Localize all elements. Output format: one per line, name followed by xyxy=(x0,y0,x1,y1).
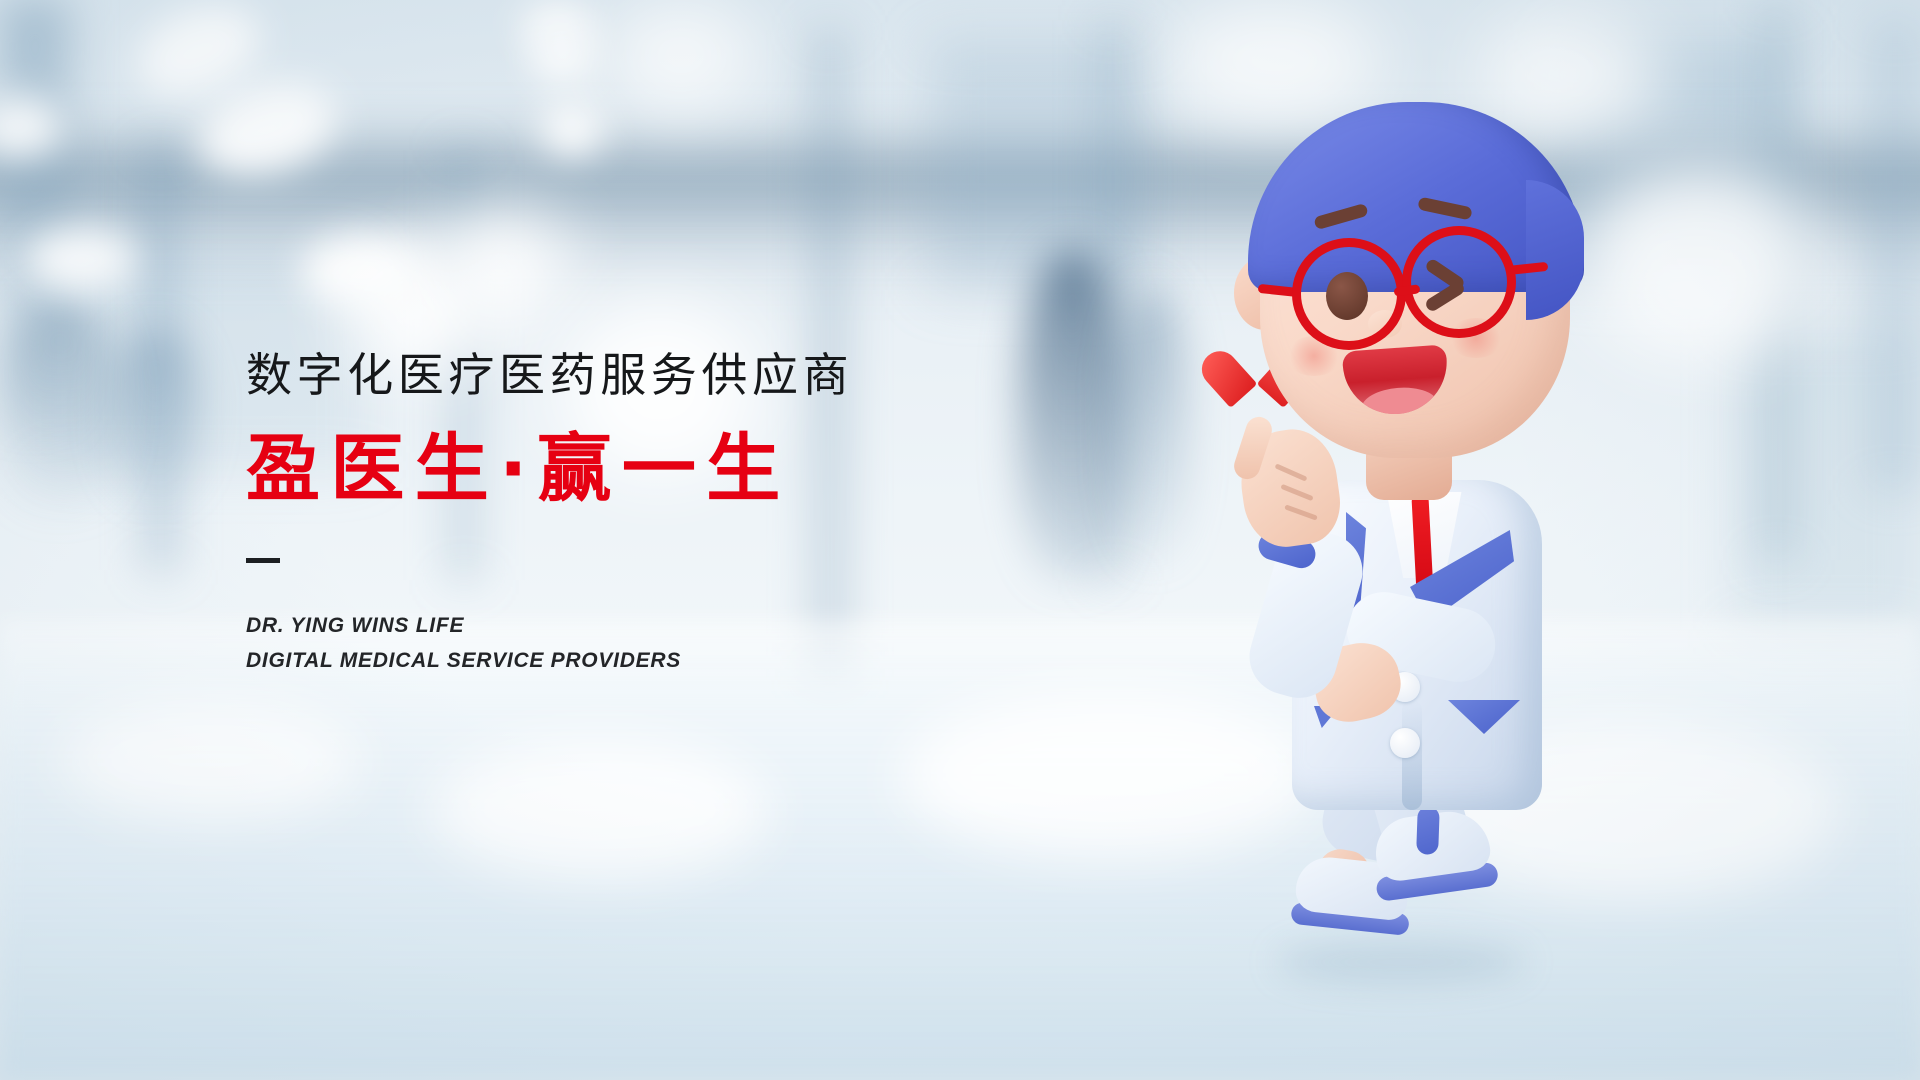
subtitle-line-2: DIGITAL MEDICAL SERVICE PROVIDERS xyxy=(246,644,1006,679)
coat-button xyxy=(1390,728,1420,758)
banner-headline-cn: 数字化医疗医药服务供应商 xyxy=(246,352,1006,398)
divider-rule xyxy=(246,558,280,563)
mascot-shadow xyxy=(1276,940,1526,984)
banner-subtitle-group: DR. YING WINS LIFE DIGITAL MEDICAL SERVI… xyxy=(246,609,1006,679)
hero-banner: 数字化医疗医药服务供应商 盈医生·赢一生 DR. YING WINS LIFE … xyxy=(0,0,1920,1080)
shoe-strap xyxy=(1416,806,1440,855)
glasses-lens-left xyxy=(1292,238,1406,350)
banner-copy-block: 数字化医疗医药服务供应商 盈医生·赢一生 DR. YING WINS LIFE … xyxy=(246,352,1006,679)
mascot-shoe-front xyxy=(1366,798,1500,906)
doctor-mascot xyxy=(1196,60,1616,1020)
subtitle-line-1: DR. YING WINS LIFE xyxy=(246,609,1006,644)
surgical-cap-side xyxy=(1526,180,1584,320)
glasses-lens-right xyxy=(1402,226,1516,338)
banner-hero-slogan: 盈医生·赢一生 xyxy=(246,432,1006,506)
